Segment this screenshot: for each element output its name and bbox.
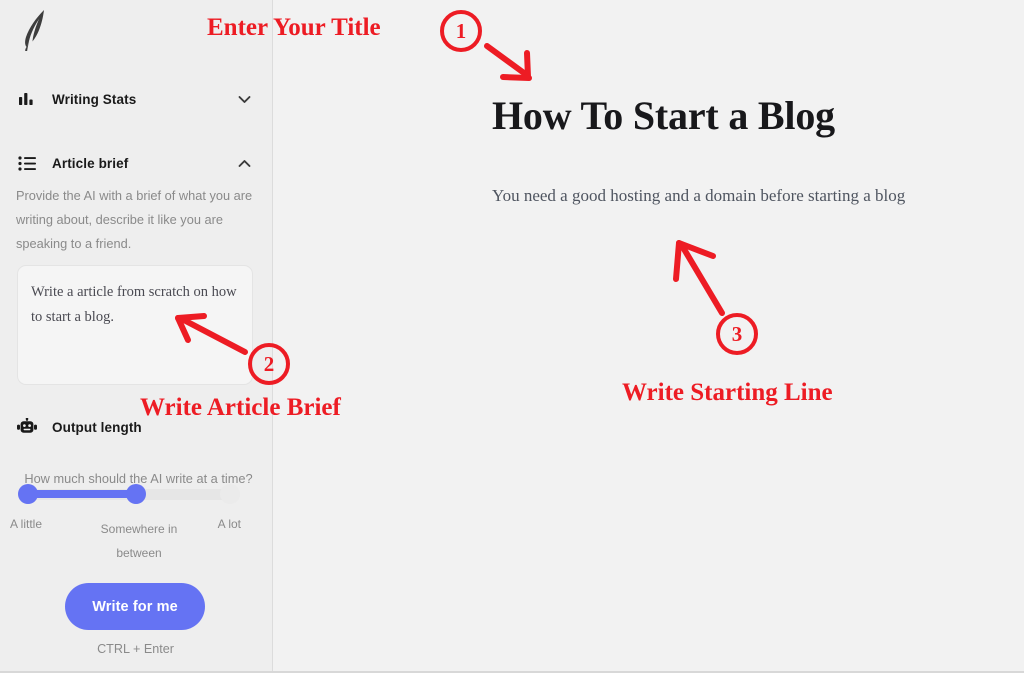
- slider-label-alot: A lot: [218, 517, 241, 531]
- document-body-text[interactable]: You need a good hosting and a domain bef…: [492, 186, 905, 206]
- robot-icon: [16, 416, 38, 438]
- sidebar: Writing Stats Article brief: [0, 0, 273, 671]
- sidebar-item-label: Article brief: [52, 156, 128, 171]
- document-title[interactable]: How To Start a Blog: [492, 92, 835, 139]
- sidebar-item-article-brief[interactable]: Article brief: [0, 148, 273, 178]
- annotation-number-1: 1: [440, 10, 482, 52]
- slider-knob-start[interactable]: [18, 484, 38, 504]
- output-length-slider[interactable]: [18, 484, 240, 504]
- annotation-label-3: Write Starting Line: [622, 379, 833, 407]
- app-window: Writing Stats Article brief: [0, 0, 1024, 673]
- write-for-me-button[interactable]: Write for me: [65, 583, 205, 630]
- slider-knob-current[interactable]: [126, 484, 146, 504]
- chevron-down-icon[interactable]: [237, 92, 251, 106]
- bar-chart-icon: [16, 88, 38, 110]
- slider-fill: [28, 490, 136, 498]
- annotation-number-2: 2: [248, 343, 290, 385]
- sidebar-item-label: Output length: [52, 420, 142, 435]
- list-icon: [16, 152, 38, 174]
- annotation-label-1: Enter Your Title: [207, 14, 381, 42]
- feather-quill-icon: [14, 6, 58, 52]
- slider-label-little: A little: [10, 517, 42, 531]
- annotation-number-3: 3: [716, 313, 758, 355]
- article-brief-description: Provide the AI with a brief of what you …: [16, 184, 256, 256]
- document-editor[interactable]: How To Start a Blog You need a good host…: [274, 0, 1024, 671]
- sidebar-item-label: Writing Stats: [52, 92, 136, 107]
- app-logo[interactable]: [14, 6, 58, 52]
- keyboard-shortcut-hint: CTRL + Enter: [0, 642, 271, 656]
- slider-tick-labels: A little Somewhere in between A lot: [8, 517, 253, 563]
- sidebar-item-writing-stats[interactable]: Writing Stats: [0, 84, 273, 114]
- annotation-label-2: Write Article Brief: [140, 394, 341, 422]
- article-brief-textarea[interactable]: [17, 265, 253, 385]
- slider-knob-max[interactable]: [220, 484, 240, 504]
- slider-label-between: Somewhere in between: [80, 517, 198, 565]
- chevron-up-icon[interactable]: [237, 156, 251, 170]
